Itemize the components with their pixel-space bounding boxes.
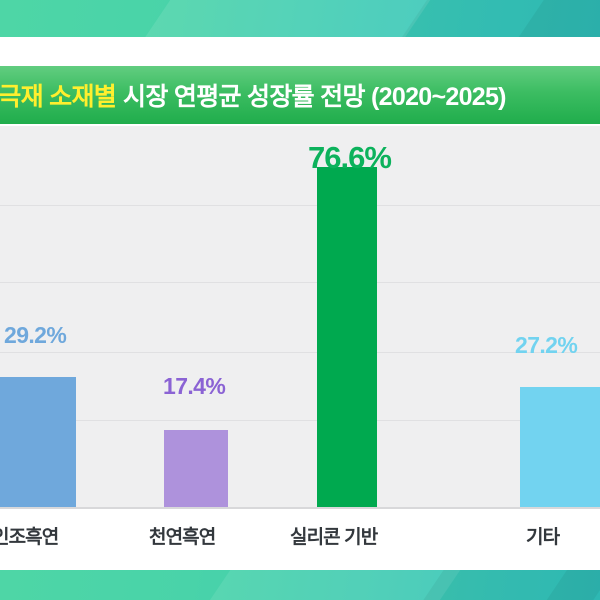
bar-cheonyeon-heugyeon[interactable]: [164, 430, 228, 507]
bar-value-label-cheonyeon-heugyeon: 17.4%: [163, 373, 225, 400]
category-axis: 인조흑연 천연흑연 실리콘 기반 기타: [0, 509, 600, 570]
gridline-20: [0, 420, 600, 421]
bar-value-label-injo-heugyeon: 29.2%: [4, 322, 66, 349]
bar-gita[interactable]: [520, 387, 600, 507]
category-label-injo-heugyeon: 인조흑연: [0, 522, 58, 549]
category-label-cheonyeon-heugyeon: 천연흑연: [149, 522, 215, 549]
chart-title: 음극재 소재별 시장 연평균 성장률 전망 (2020~2025): [0, 77, 506, 113]
chart-title-bar: 음극재 소재별 시장 연평균 성장률 전망 (2020~2025): [0, 66, 600, 124]
title-rest-text: 시장 연평균 성장률 전망 (2020~2025): [123, 77, 506, 113]
bar-value-label-gita: 27.2%: [515, 332, 577, 359]
bar-value-label-silicon-based: 76.6%: [308, 140, 391, 176]
chart-screenshot: 음극재 소재별 시장 연평균 성장률 전망 (2020~2025) 29.2% …: [0, 0, 600, 600]
gridline-40: [0, 352, 600, 353]
top-decorative-band: [0, 0, 600, 37]
bar-injo-heugyeon[interactable]: [0, 377, 76, 507]
bar-silicon-based[interactable]: [317, 167, 377, 507]
bottom-decorative-band: [0, 570, 600, 600]
title-highlight-text: 음극재 소재별: [0, 77, 116, 113]
plot-area: 29.2% 17.4% 76.6% 27.2%: [0, 126, 600, 509]
category-label-gita: 기타: [526, 522, 559, 549]
band-facet: [103, 0, 457, 37]
gridline-60: [0, 282, 600, 283]
gridline-80: [0, 205, 600, 206]
category-label-silicon-based: 실리콘 기반: [290, 522, 377, 549]
